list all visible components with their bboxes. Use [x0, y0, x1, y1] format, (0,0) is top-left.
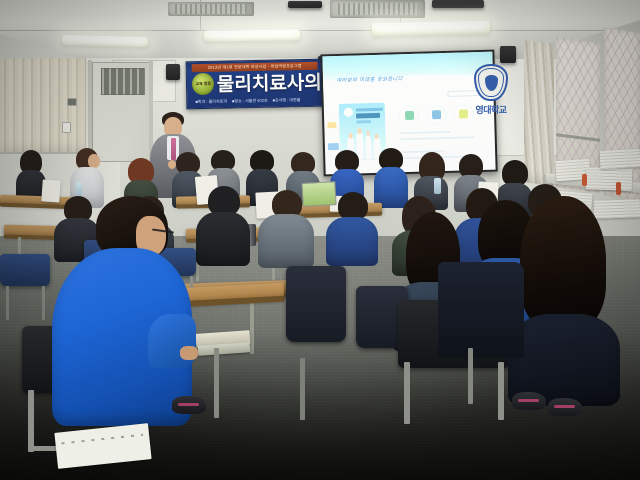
chair[interactable] [0, 254, 50, 304]
banner-subtitle-item: ■학과 : 물리치료과 [195, 98, 227, 105]
chair-leg [214, 348, 219, 418]
window-blinds-left [0, 58, 86, 154]
paper-stack [600, 149, 640, 169]
university-emblem: 영대학교 [474, 64, 508, 116]
slide-text-line [399, 136, 474, 140]
shoe [512, 392, 546, 410]
ceiling-speaker [432, 0, 484, 8]
university-name: 영대학교 [475, 103, 506, 116]
event-banner: 2013년 제1회 전문대학 육성사업 - 취업역량프로그램 교육 협동 물리치… [186, 59, 325, 110]
ceiling-light [372, 21, 490, 36]
card-heading-small [356, 108, 384, 112]
badge-license-icon[interactable] [453, 104, 474, 124]
card-badge-icon [344, 108, 353, 117]
paper-stack [586, 167, 633, 191]
banner-subtitle: ■학과 : 물리치료과 ■장소 : 서울관 502호 ■강사명 : 대한물 [195, 96, 318, 106]
water-bottle [434, 178, 441, 194]
ac-vent [330, 0, 425, 18]
card-heading-large [356, 113, 380, 119]
student-mid-beanie [196, 186, 250, 266]
student-hair [520, 196, 606, 330]
banner-title: 물리치료사의 미래 [217, 71, 323, 94]
ceiling-light [204, 29, 300, 41]
bottle [616, 182, 621, 195]
lecture-hall-photo: 2013년 제1회 전문대학 육성사업 - 취업역량프로그램 교육 협동 물리치… [0, 0, 640, 480]
shoe [548, 398, 582, 416]
student-mid-center [258, 190, 314, 268]
shoe [172, 396, 206, 414]
classroom-door[interactable] [92, 62, 152, 162]
backpack [286, 266, 346, 342]
banner-seal: 교육 협동 [192, 73, 214, 95]
chair-leg [468, 348, 473, 404]
ac-vent [168, 2, 254, 16]
door-window [101, 68, 145, 95]
slide-side-thumb [328, 122, 337, 128]
badge-career-icon[interactable] [426, 105, 447, 125]
wall-speaker [500, 46, 516, 63]
crest-icon [474, 64, 508, 101]
wall-speaker [166, 64, 180, 80]
water-bottle [76, 182, 82, 196]
student-blue-jacket [52, 196, 192, 426]
banner-subtitle-item: ■강사명 : 대한물 [273, 97, 301, 104]
student-hand [180, 346, 198, 360]
draped-bag [438, 262, 524, 358]
slide-text-line [399, 131, 450, 135]
door-frame [88, 60, 92, 162]
badge-education-icon[interactable] [399, 106, 420, 126]
chair-leg [300, 358, 305, 420]
ceiling-seam [0, 30, 640, 31]
light-switch[interactable] [62, 122, 71, 133]
banner-subtitle-item: ■장소 : 서울관 502호 [232, 98, 268, 105]
figure-person [364, 134, 373, 160]
ceiling-speaker [288, 1, 322, 8]
student-front-right-longhair [508, 196, 620, 406]
bottle [582, 174, 587, 186]
student-mid-right-1 [326, 192, 378, 266]
card-subheading [356, 120, 372, 123]
wall-fixture [67, 98, 77, 106]
